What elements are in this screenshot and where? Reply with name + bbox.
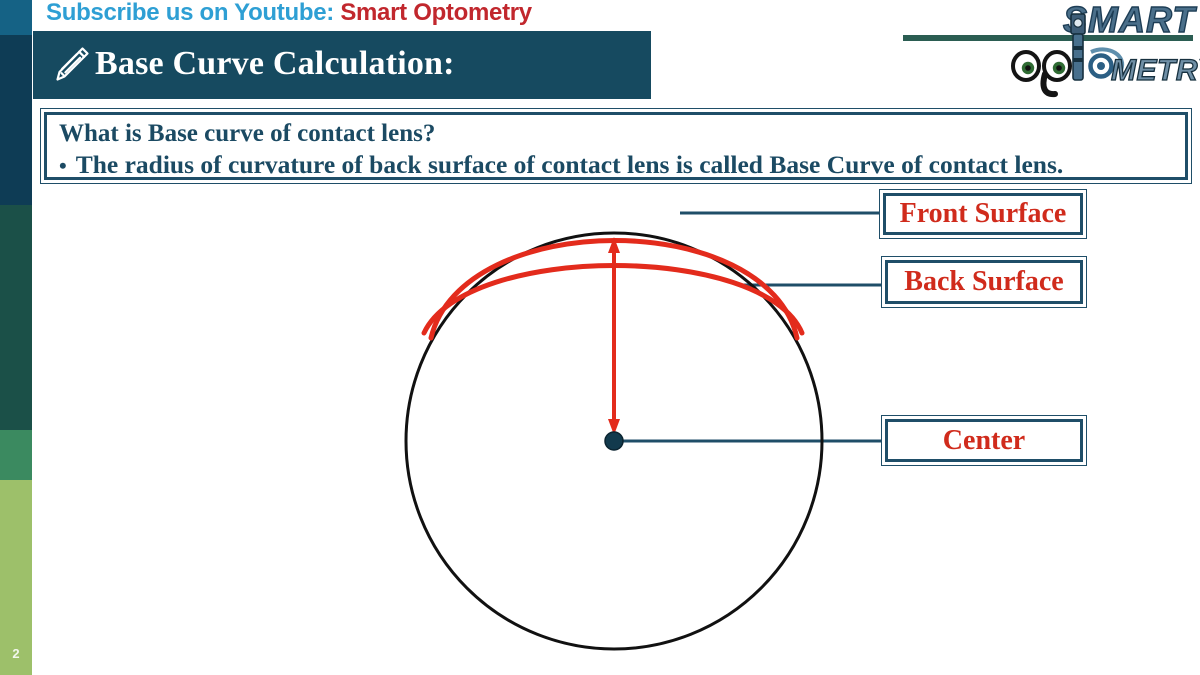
sidebar-band-navy	[0, 35, 32, 205]
page-title: Base Curve Calculation:	[95, 45, 455, 83]
callout-center-label: Center	[943, 425, 1025, 457]
definition-box-inner: What is Base curve of contact lens? • Th…	[44, 112, 1188, 180]
center-point-dot	[605, 432, 623, 450]
logo-eye-right-icon	[1043, 52, 1070, 94]
definition-question: What is Base curve of contact lens?	[59, 119, 1175, 149]
callout-front-surface-inner: Front Surface	[883, 193, 1083, 235]
callout-center[interactable]: Center	[881, 415, 1087, 466]
slide-title-bar: Base Curve Calculation:	[33, 31, 651, 99]
definition-bullet-item: • The radius of curvature of back surfac…	[59, 149, 1175, 182]
bullet-marker: •	[59, 150, 67, 182]
callout-back-surface[interactable]: Back Surface	[881, 256, 1087, 308]
callout-back-surface-inner: Back Surface	[885, 260, 1083, 304]
sidebar-band-green	[0, 430, 32, 480]
sidebar-band-dark-teal	[0, 205, 32, 430]
page-number: 2	[0, 646, 32, 661]
logo-torch-icon	[1071, 14, 1085, 80]
callout-front-surface-label: Front Surface	[900, 198, 1067, 230]
pencil-icon	[49, 43, 93, 87]
logo-eye-left-icon	[1013, 52, 1039, 80]
subscribe-label: Subscribe us on Youtube:	[46, 0, 334, 26]
callout-back-surface-label: Back Surface	[904, 266, 1063, 298]
sidebar-band-steel-blue	[0, 0, 32, 35]
definition-box: What is Base curve of contact lens? • Th…	[40, 108, 1192, 184]
callout-center-inner: Center	[885, 419, 1083, 462]
subscribe-channel-name: Smart Optometry	[340, 0, 532, 26]
subscribe-banner: Subscribe us on Youtube: Smart Optometry	[46, 0, 532, 28]
sidebar-color-rail	[0, 0, 32, 675]
definition-bullet-text: The radius of curvature of back surface …	[76, 149, 1064, 181]
base-curve-diagram	[0, 0, 1200, 675]
callout-front-surface[interactable]: Front Surface	[879, 189, 1087, 239]
smart-optometry-logo: SMART METRY	[895, 0, 1200, 100]
svg-text:METRY: METRY	[1111, 54, 1200, 87]
